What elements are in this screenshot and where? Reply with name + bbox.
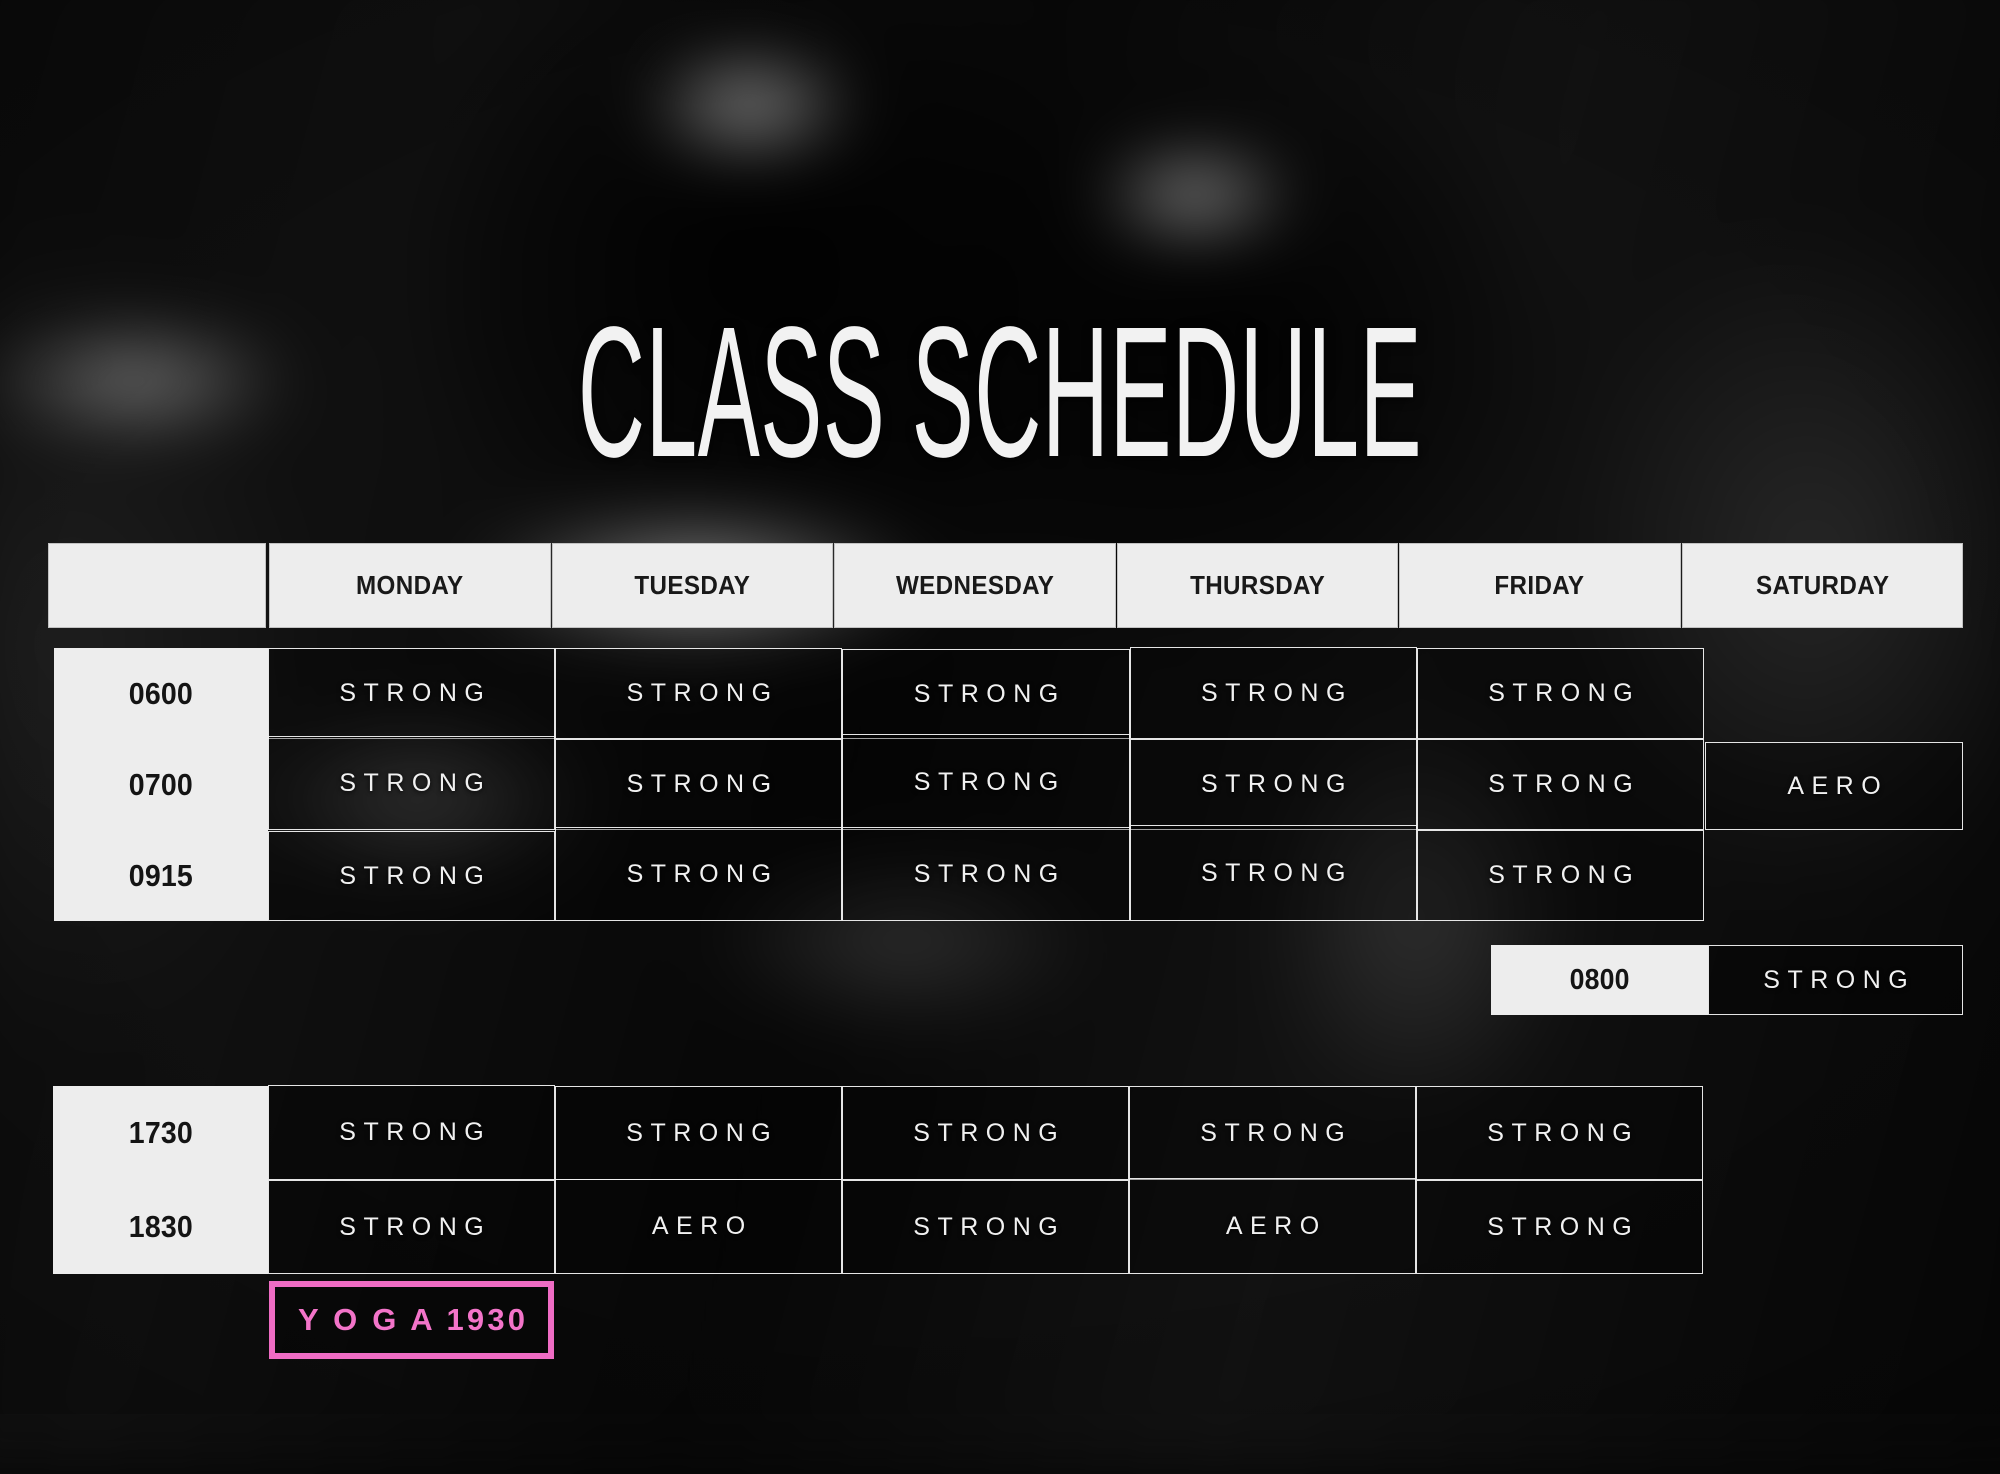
header-day-monday[interactable]: MONDAY bbox=[269, 543, 551, 628]
class-cell-tuesday[interactable]: STRONG bbox=[555, 739, 842, 830]
schedule-stage: CLASS SCHEDULE MONDAY TUESDAY WEDNESDAY … bbox=[0, 0, 2000, 1414]
class-cell-monday[interactable]: STRONG bbox=[268, 831, 555, 921]
morning-schedule-block: 0600 STRONG STRONG STRONG STRONG STRONG … bbox=[54, 648, 1704, 921]
time-label: 0800 bbox=[1569, 964, 1629, 997]
header-day-wednesday[interactable]: WEDNESDAY bbox=[834, 543, 1116, 628]
class-cell-wednesday[interactable]: STRONG bbox=[842, 1086, 1129, 1180]
page-title: CLASS SCHEDULE bbox=[500, 300, 1500, 486]
class-cell-tuesday[interactable]: STRONG bbox=[555, 827, 842, 921]
class-cell-friday[interactable]: STRONG bbox=[1416, 1180, 1703, 1274]
header-day-label: TUESDAY bbox=[634, 570, 750, 601]
header-day-label: MONDAY bbox=[356, 570, 463, 601]
class-cell-wednesday[interactable]: STRONG bbox=[842, 649, 1129, 739]
class-cell-wednesday[interactable]: STRONG bbox=[842, 734, 1129, 830]
class-cell-wednesday[interactable]: STRONG bbox=[842, 827, 1129, 921]
class-cell-saturday-0800[interactable]: STRONG bbox=[1708, 945, 1963, 1015]
time-label: 1830 bbox=[128, 1209, 192, 1245]
class-cell-friday[interactable]: STRONG bbox=[1417, 739, 1704, 830]
header-day-tuesday[interactable]: TUESDAY bbox=[552, 543, 834, 628]
class-cell-wednesday[interactable]: STRONG bbox=[842, 1180, 1129, 1274]
class-cell-thursday[interactable]: STRONG bbox=[1130, 647, 1417, 739]
time-label-cell: 0600 bbox=[54, 648, 268, 739]
table-row: 0700 STRONG STRONG STRONG STRONG STRONG bbox=[54, 739, 1704, 830]
time-label-cell: 1830 bbox=[53, 1180, 268, 1274]
time-label-cell: 0800 bbox=[1491, 945, 1708, 1015]
header-day-label: THURSDAY bbox=[1190, 570, 1325, 601]
class-cell-tuesday[interactable]: STRONG bbox=[555, 1086, 842, 1180]
table-row: 1730 STRONG STRONG STRONG STRONG STRONG bbox=[53, 1086, 1703, 1180]
time-label: 1730 bbox=[128, 1115, 192, 1151]
class-cell-monday[interactable]: STRONG bbox=[268, 648, 555, 739]
class-cell-monday[interactable]: STRONG bbox=[268, 736, 555, 830]
time-label: 0600 bbox=[129, 676, 193, 712]
time-label: 0915 bbox=[129, 858, 193, 894]
class-cell-friday[interactable]: STRONG bbox=[1416, 1086, 1703, 1180]
time-label-cell: 0915 bbox=[54, 830, 268, 921]
class-cell-thursday[interactable]: STRONG bbox=[1129, 1086, 1416, 1180]
class-cell-friday[interactable]: STRONG bbox=[1417, 648, 1704, 739]
header-day-thursday[interactable]: THURSDAY bbox=[1117, 543, 1399, 628]
class-cell-thursday[interactable]: AERO bbox=[1129, 1178, 1416, 1274]
table-row: 0915 STRONG STRONG STRONG STRONG STRONG bbox=[54, 830, 1704, 921]
yoga-badge[interactable]: Y O G A 1930 bbox=[269, 1281, 554, 1359]
header-day-label: SATURDAY bbox=[1756, 570, 1889, 601]
class-cell-monday[interactable]: STRONG bbox=[268, 1180, 555, 1274]
time-label-cell: 0700 bbox=[54, 739, 268, 830]
class-cell-friday[interactable]: STRONG bbox=[1417, 830, 1704, 921]
class-cell-monday[interactable]: STRONG bbox=[268, 1085, 555, 1180]
evening-schedule-block: 1730 STRONG STRONG STRONG STRONG STRONG … bbox=[53, 1086, 1703, 1274]
class-cell-saturday-0700[interactable]: AERO bbox=[1705, 742, 1963, 830]
time-label: 0700 bbox=[129, 767, 193, 803]
header-corner-cell bbox=[48, 543, 266, 628]
table-row: 0600 STRONG STRONG STRONG STRONG STRONG bbox=[54, 648, 1704, 739]
table-row-0800: 0800 STRONG bbox=[1491, 945, 1963, 1015]
header-day-saturday[interactable]: SATURDAY bbox=[1682, 543, 1964, 628]
header-day-label: FRIDAY bbox=[1495, 570, 1585, 601]
class-cell-thursday[interactable]: STRONG bbox=[1130, 825, 1417, 921]
class-cell-thursday[interactable]: STRONG bbox=[1130, 739, 1417, 830]
time-label-cell: 1730 bbox=[53, 1086, 268, 1180]
class-cell-tuesday[interactable]: AERO bbox=[555, 1179, 842, 1274]
table-row: 1830 STRONG AERO STRONG AERO STRONG bbox=[53, 1180, 1703, 1274]
schedule-header-row: MONDAY TUESDAY WEDNESDAY THURSDAY FRIDAY… bbox=[48, 543, 1963, 628]
header-day-friday[interactable]: FRIDAY bbox=[1399, 543, 1681, 628]
class-cell-tuesday[interactable]: STRONG bbox=[555, 648, 842, 739]
header-day-label: WEDNESDAY bbox=[896, 570, 1054, 601]
